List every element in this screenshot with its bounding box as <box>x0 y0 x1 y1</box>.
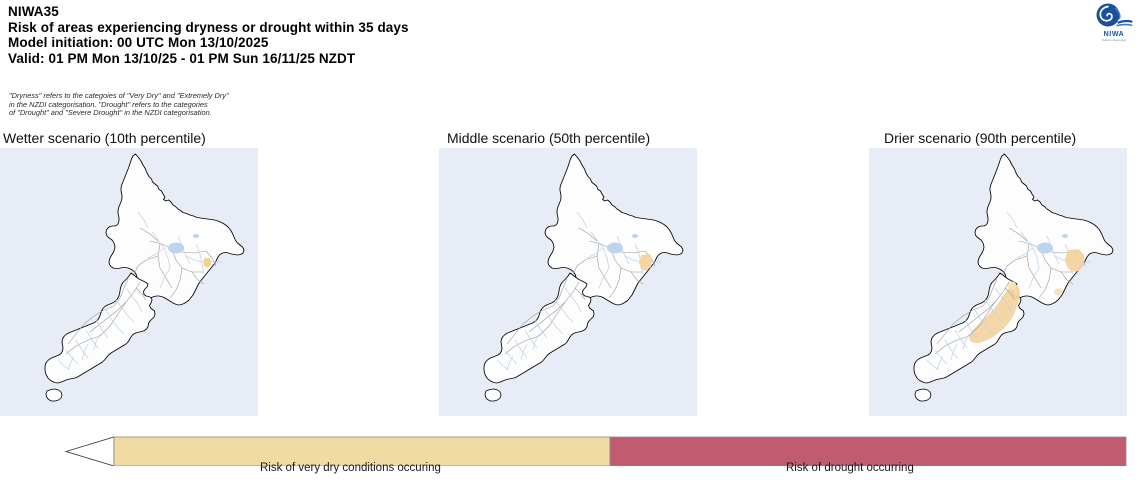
new-zealand-map-drier <box>869 148 1127 416</box>
logo-tagline: Taihoro Nukurangi <box>1094 39 1134 43</box>
stewart-island-land <box>915 389 931 401</box>
south-island-land <box>45 273 155 383</box>
nz-landmass-group <box>484 154 683 401</box>
lake-rotorua <box>193 234 199 238</box>
south-island-land <box>484 273 594 383</box>
footnote: "Dryness" refers to the categoies of "Ve… <box>9 92 429 118</box>
lake-taupo <box>1037 243 1053 254</box>
lake-taupo <box>168 243 184 254</box>
legend-arrow-left <box>66 437 114 466</box>
lake-taupo <box>607 243 623 254</box>
legend-colorbar[interactable] <box>0 432 1140 466</box>
product-code: NIWA35 <box>8 4 908 20</box>
map-panel-wetter[interactable] <box>0 148 258 416</box>
valid-period: Valid: 01 PM Mon 13/10/25 - 01 PM Sun 16… <box>8 51 908 67</box>
legend-label-drought: Risk of drought occurring <box>786 462 914 474</box>
lake-rotorua <box>632 234 638 238</box>
footnote-line-3: of "Drought" and "Severe Drought" in the… <box>9 109 429 118</box>
niwa-logo: NIWA Taihoro Nukurangi <box>1094 2 1134 44</box>
header-block: NIWA35 Risk of areas experiencing drynes… <box>8 4 908 66</box>
nz-landmass-group <box>45 154 244 401</box>
map-panel-middle[interactable] <box>439 148 697 416</box>
model-initiation: Model initiation: 00 UTC Mon 13/10/2025 <box>8 35 908 51</box>
panel-title-drier: Drier scenario (90th percentile) <box>884 129 1076 147</box>
legend-label-very-dry: Risk of very dry conditions occuring <box>260 462 441 474</box>
south-island-land <box>914 273 1024 383</box>
stewart-island-land <box>485 389 501 401</box>
niwa-swirl-icon <box>1094 2 1134 32</box>
new-zealand-map-wetter <box>0 148 258 416</box>
stewart-island-land <box>46 389 62 401</box>
nz-landmass-group <box>914 154 1113 401</box>
map-panel-drier[interactable] <box>869 148 1127 416</box>
new-zealand-map-middle <box>439 148 697 416</box>
panel-title-middle: Middle scenario (50th percentile) <box>447 129 650 147</box>
legend <box>0 432 1140 483</box>
page-title: Risk of areas experiencing dryness or dr… <box>8 20 908 36</box>
logo-wordmark: NIWA <box>1094 31 1134 39</box>
panel-title-wetter: Wetter scenario (10th percentile) <box>3 129 206 147</box>
lake-rotorua <box>1062 234 1068 238</box>
